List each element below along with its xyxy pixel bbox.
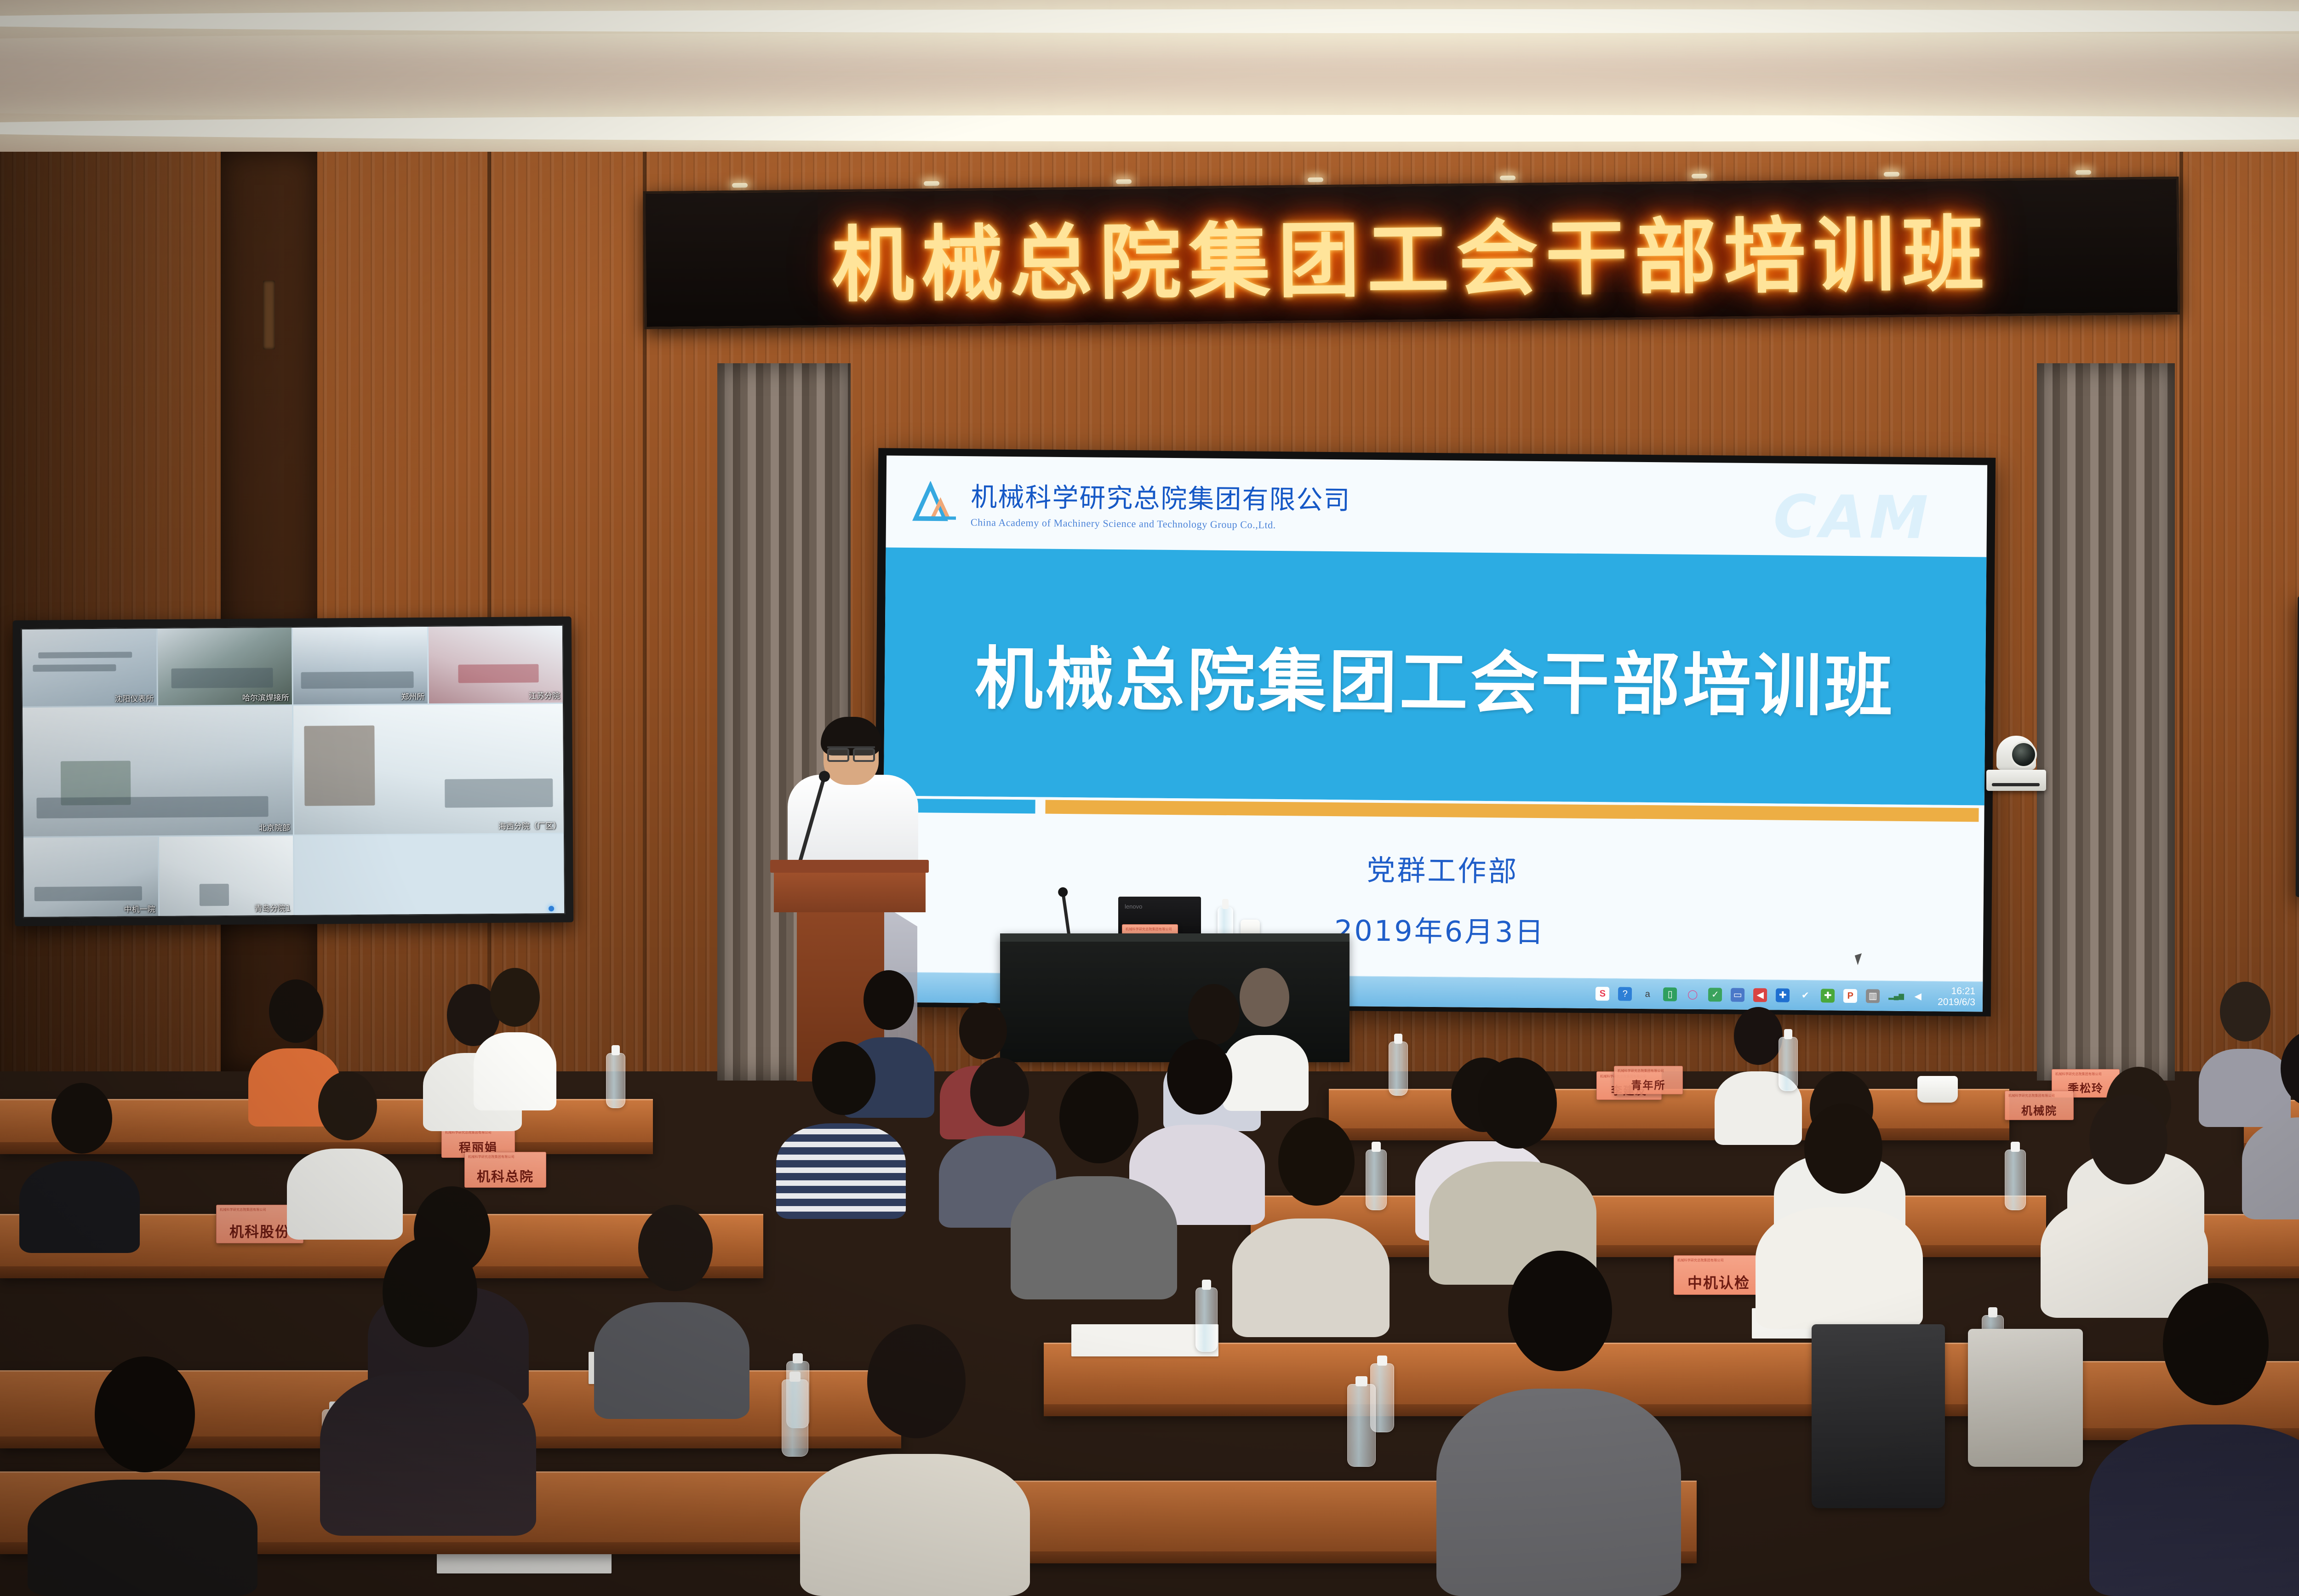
water-bottle-1 [606,1053,625,1108]
ceiling-cove-light-lower [0,115,2299,142]
vc-grid-left: 沈阳仪表所 哈尔滨焊接所 郑州所 江苏分院 北京院部 [21,625,565,918]
vc-cell-empty [294,834,564,915]
vc-cell-6: 海西分院（厂区） [293,704,564,835]
water-bottle-7 [2005,1150,2026,1210]
attendee-head [2281,1030,2299,1107]
system-tray[interactable]: S ? a ▯ ◯ ✓ ▭ ◀ ✚ ✔ ✚ P ▥ ▂▄▆ ◀ [1596,987,1925,1003]
backpack-on-chair [1812,1324,1945,1508]
attendee-head [867,1324,966,1438]
taskbar-clock[interactable]: 16:21 2019/6/3 [1933,985,1975,1007]
attendee-r1-3 [474,968,554,1106]
attendee-head [959,1002,1007,1059]
wall-seam-1 [487,152,491,1071]
name-card-logo: 机械科学研究总院集团有限公司 [1126,927,1172,932]
signal-bars-icon[interactable]: ▂▄▆ [1888,989,1902,1003]
ptz-camera-base [1986,770,2046,791]
vc-cell-2: 哈尔滨焊接所 [157,628,292,705]
wall-shadow-left [0,152,285,1071]
led-banner: 机械总院集团工会干部培训班 [643,177,2180,329]
vc-cell-8: 青岛分院1 [159,836,293,916]
cam-watermark: CAM [1773,482,1932,552]
presentation-slide: 机械科学研究总院集团有限公司 China Academy of Machiner… [882,456,1987,1012]
ptz-camera-lens [2012,743,2035,766]
attendee-head [864,970,914,1030]
vc-cell-7: 中机一院 [23,837,158,917]
attendee-r3-2 [607,1205,736,1416]
attendee-head [812,1041,875,1115]
attendee-r2-2 [294,1071,393,1235]
attendee-head [318,1071,377,1140]
attendee-r2-3 [786,1041,894,1216]
attendee-head [1734,1007,1783,1065]
update-icon[interactable]: ✚ [1821,989,1835,1002]
attendee-torso [594,1302,749,1419]
name-card-logo: 机械科学研究总院集团有限公司 [220,1207,266,1212]
attendee-r2-9 [2253,1030,2299,1218]
vc-site-label-2: 哈尔滨焊接所 [242,691,289,703]
shield-icon[interactable]: ✓ [1708,988,1722,1001]
attendee-torso [1756,1207,1923,1329]
attendee-head [1278,1117,1355,1206]
input-method-icon[interactable]: a [1641,987,1654,1001]
attendee-r4-4 [1462,1251,1655,1596]
vc-site-label-1: 沈阳仪表所 [114,692,154,704]
attendee-head [2089,1094,2167,1184]
company-name-en: China Academy of Machinery Science and T… [971,516,1350,532]
display-icon[interactable]: ▭ [1731,988,1744,1001]
name-card-text: 青年所 [1617,1076,1680,1092]
water-bottle-8 [1195,1287,1218,1352]
vc-cell-3: 郑州所 [293,627,428,704]
tea-mug-row-2 [1917,1076,1958,1103]
presenter-shirt [788,775,918,874]
name-card-jike-zongyuan: 机械科学研究总院集团有限公司 机科总院 [464,1152,546,1188]
projection-screen: 机械科学研究总院集团有限公司 China Academy of Machiner… [874,448,1996,1016]
slide-department: 党群工作部 [901,843,1984,894]
video-conference-monitor-left: 沈阳仪表所 哈尔滨焊接所 郑州所 江苏分院 北京院部 [13,617,574,926]
laptop-brand-label: lenovo [1125,903,1142,910]
attendee-r2-1 [28,1083,129,1248]
water-bottle-14 [1347,1384,1376,1467]
check-icon[interactable]: ✔ [1798,988,1812,1002]
attendee-torso [776,1123,906,1219]
name-card-misc-2: 机械科学研究总院集团有限公司 青年所 [1614,1066,1683,1094]
attendee-torso [1232,1218,1390,1337]
attendee-torso [28,1480,257,1596]
attendee-head [95,1356,195,1472]
ptz-camera-head [1996,736,2036,770]
attendee-head [51,1083,112,1154]
attendee-r3-3 [1025,1071,1163,1297]
sogou-input-icon[interactable]: S [1596,987,1609,1001]
attendee-r3-4 [1246,1117,1375,1333]
volume-mute-icon[interactable]: ◀ [1753,988,1767,1002]
attendee-head [970,1058,1029,1127]
attendee-torso [1011,1176,1177,1299]
attendee-r3-5 [1444,1058,1582,1283]
attendee-torso [800,1454,1030,1596]
attendee-r3-6 [1770,1104,1908,1327]
attendee-head [638,1205,713,1291]
led-banner-text: 机械总院集团工会干部培训班 [831,188,1992,317]
company-name-cn: 机械科学研究总院集团有限公司 [971,476,1351,517]
vc-cell-5: 北京院部 [23,706,293,837]
powerpoint-icon[interactable]: P [1843,989,1857,1002]
clock-date: 2019/6/3 [1938,996,1975,1007]
network-icon[interactable]: ▥ [1866,989,1880,1003]
attendee-head [269,979,323,1043]
name-card-logo: 机械科学研究总院集团有限公司 [1618,1069,1664,1073]
name-card-logo: 机械科学研究总院集团有限公司 [2008,1093,2055,1098]
name-card-logo: 机械科学研究总院集团有限公司 [468,1155,515,1159]
attendee-head [1478,1058,1557,1149]
vc-site-label-7: 中机一院 [124,903,155,914]
name-card-text: 机科总院 [468,1166,543,1185]
water-bottle-16 [782,1379,808,1457]
vc-site-label-6: 海西分院（厂区） [498,819,561,831]
attendee-r4-1 [51,1356,234,1596]
attendee-head [1804,1104,1882,1194]
slide-title: 机械总院集团工会干部培训班 [974,623,1896,730]
name-card-zhongji-renjian: 机械科学研究总院集团有限公司 中机认检 [1674,1255,1764,1295]
presenter-glasses-icon [827,746,875,756]
attendee-r4-3 [823,1324,1007,1596]
attendee-head [490,968,540,1027]
vc-cell-1: 沈阳仪表所 [22,629,157,706]
attendee-head [1240,968,1289,1027]
attendee-torso [2089,1424,2299,1596]
usb-drive-icon[interactable]: ▯ [1663,987,1677,1001]
attendee-torso [320,1371,536,1536]
attendee-head [383,1237,477,1347]
slide-title-band: 机械总院集团工会干部培训班 [884,548,1987,806]
name-card-text: 中机认检 [1677,1271,1761,1293]
attendee-head [1508,1251,1612,1371]
ptz-camera-icon [1986,736,2046,791]
wall-seam-3 [2179,152,2183,1071]
attendee-r3-7 [2055,1094,2193,1315]
handbag-on-chair [1968,1329,2083,1467]
slide-header: 机械科学研究总院集团有限公司 China Academy of Machiner… [886,456,1987,557]
speaker-icon[interactable]: ◀ [1911,990,1925,1003]
stage-curtain-right [2037,363,2175,1081]
attendee-r4-5 [2115,1283,2299,1596]
mouse-cursor-icon [1855,953,1865,965]
attendee-head [1167,1039,1232,1115]
camtc-logo-icon [912,481,963,523]
podium-front-panel [774,871,926,912]
help-icon[interactable]: ? [1618,987,1632,1001]
vc-site-label-8: 青岛分院1 [254,902,291,914]
attendee-torso [474,1032,556,1110]
attendee-head [1059,1071,1138,1163]
company-logo: 机械科学研究总院集团有限公司 China Academy of Machiner… [886,475,1351,532]
ceiling-cove-light-upper [0,9,2299,33]
vc-site-label-3: 郑州所 [401,690,424,702]
podium-top-surface [770,860,929,873]
monitor-power-led-left [549,906,554,911]
attendee-torso [1436,1389,1681,1596]
vc-cell-4: 江苏分院 [428,626,563,704]
conference-hall-photo: 机械总院集团工会干部培训班 机械科学研究总院集团有限公司 China Acade… [0,0,2299,1596]
water-bottle-2 [1389,1041,1408,1096]
name-card-logo: 机械科学研究总院集团有限公司 [1677,1258,1724,1263]
clock-time: 16:21 [1938,986,1975,997]
attendee-head [2163,1283,2269,1405]
bluetooth-icon[interactable]: ✚ [1776,988,1790,1002]
vc-site-label-5: 北京院部 [259,821,290,833]
vc-site-label-4: 江苏分院 [529,689,560,700]
sync-icon[interactable]: ◯ [1686,987,1699,1001]
attendee-r4-2 [340,1237,515,1536]
ceiling-panel [0,32,2299,120]
attendee-torso [19,1161,140,1253]
